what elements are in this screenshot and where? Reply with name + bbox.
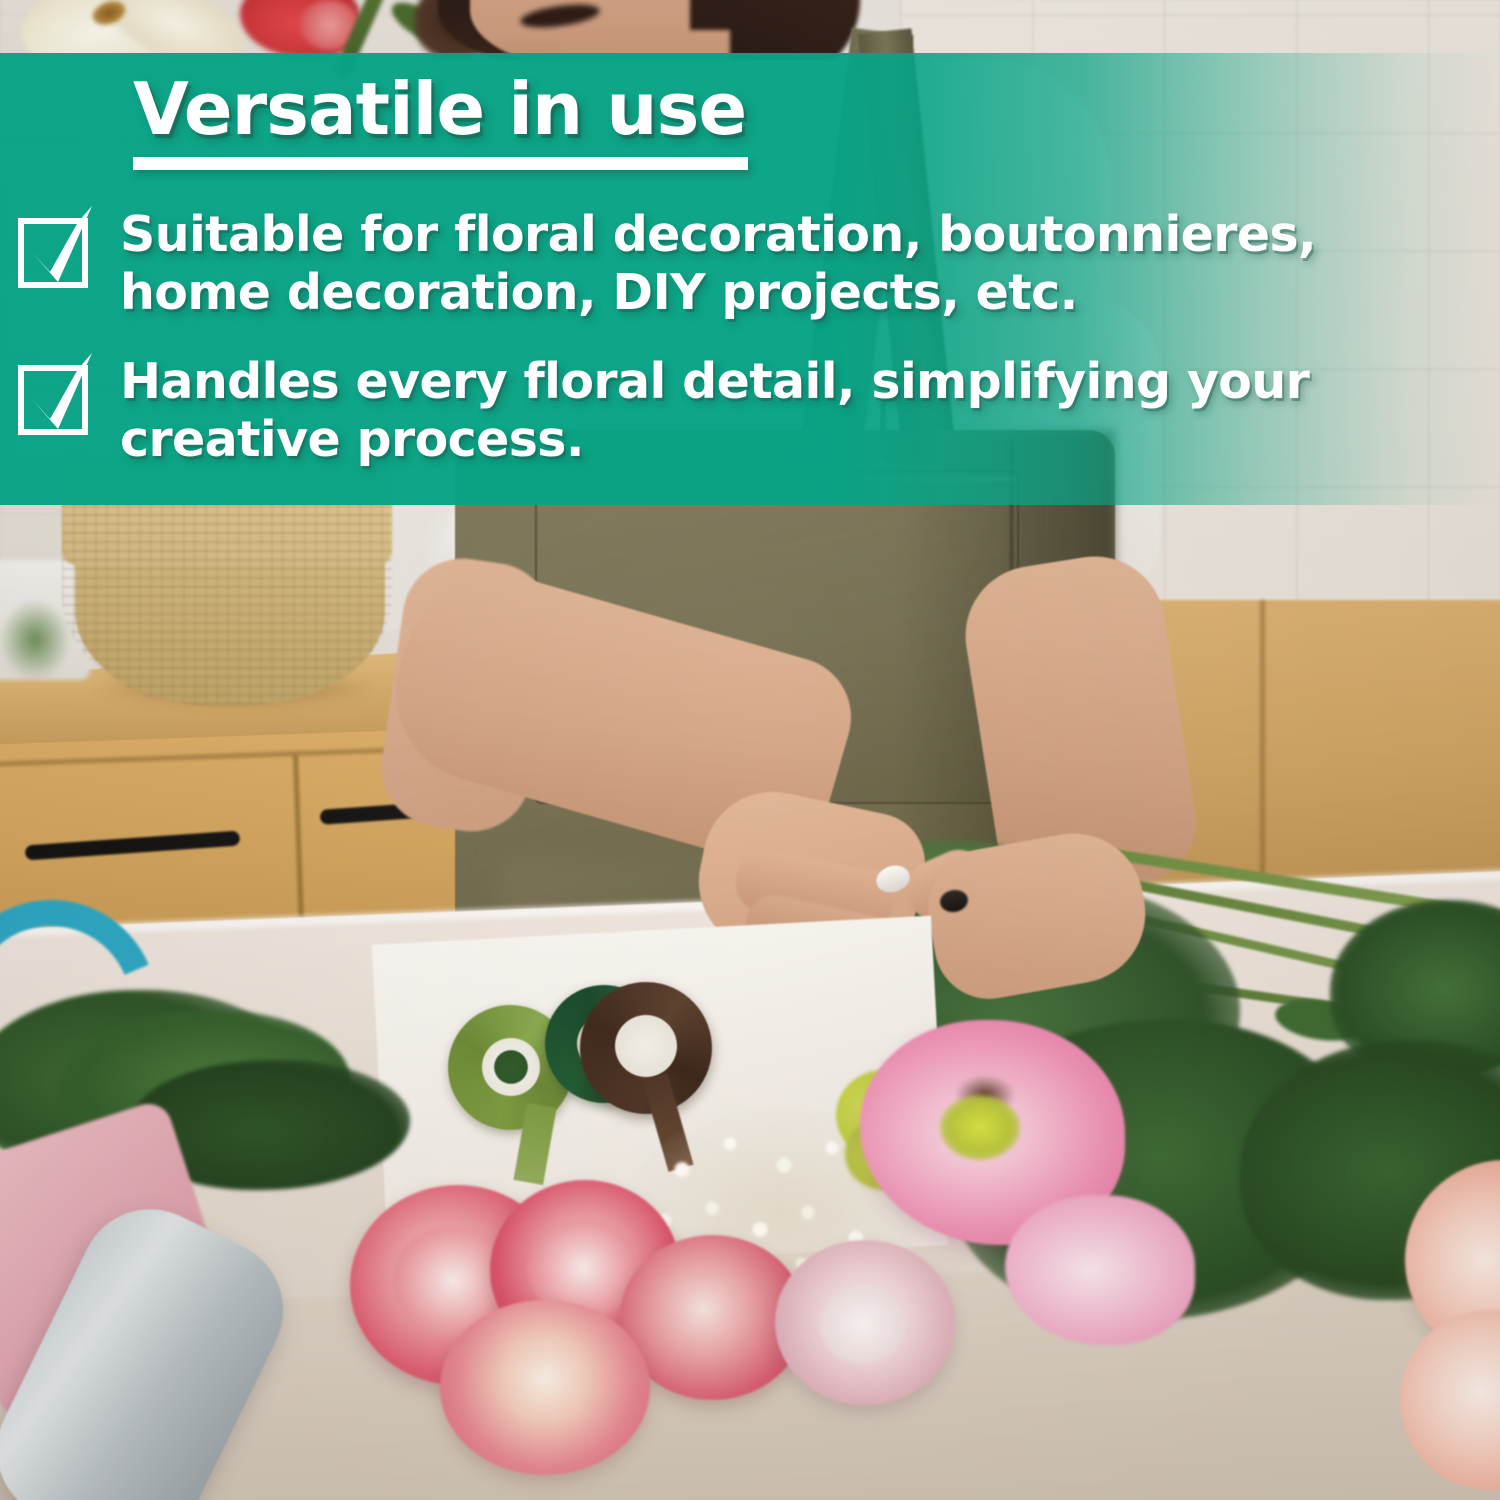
banner-headline: Versatile in use (133, 73, 746, 145)
product-feature-image: Versatile in use Suitable for floral dec… (0, 0, 1500, 1500)
feature-bullet-2: Handles every floral detail, simplifying… (18, 353, 1330, 470)
brown-tape-core (615, 1015, 677, 1077)
feature-bullet-2-text: Handles every floral detail, simplifying… (120, 353, 1330, 470)
green-sprig (0, 600, 70, 680)
checkbox-checked-icon (18, 365, 94, 439)
headline-underline (133, 157, 748, 170)
checkbox-checked-icon (18, 218, 94, 292)
olive-tape-core (482, 1038, 540, 1096)
pink-rose-4 (440, 1300, 650, 1475)
feature-banner: Versatile in use Suitable for floral dec… (0, 53, 1500, 505)
carnation-center (940, 1095, 1020, 1160)
feature-bullet-1-text: Suitable for floral decoration, boutonni… (120, 206, 1330, 323)
feature-bullet-1: Suitable for floral decoration, boutonni… (18, 206, 1330, 323)
pale-pink-rose-center (820, 1285, 905, 1363)
